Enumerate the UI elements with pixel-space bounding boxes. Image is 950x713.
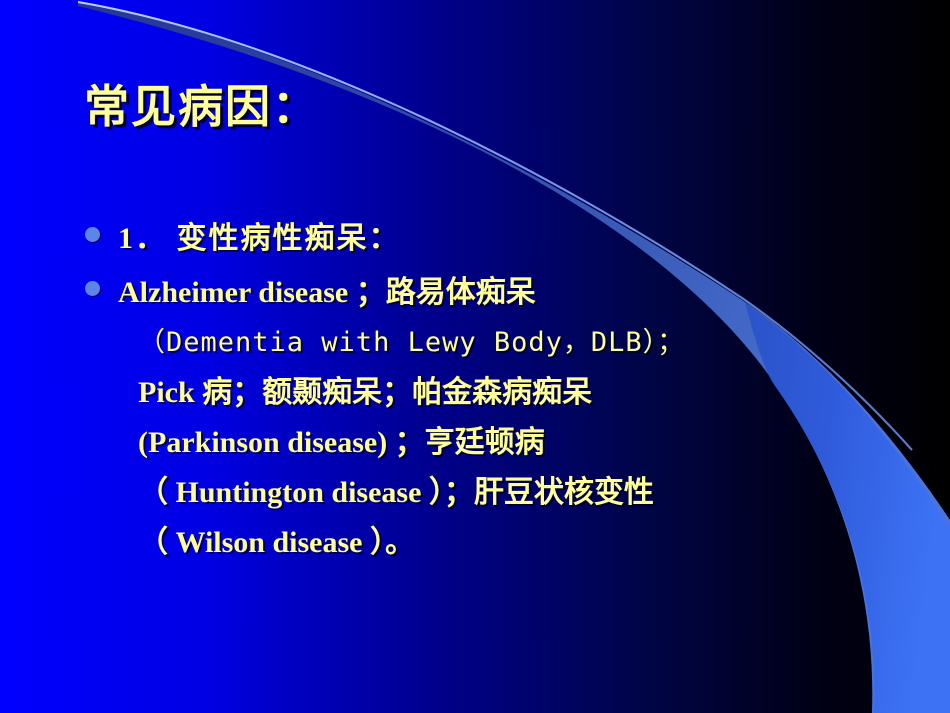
page-title: 常见病因： (84, 83, 319, 130)
bullet-dot-icon (85, 281, 100, 296)
list-item-line: Pick 病；额颞痴呆；帕金森病痴呆 (118, 368, 928, 418)
bullet-dot-icon (85, 227, 100, 242)
list-item[interactable]: 1． 变性病性痴呆： (78, 214, 928, 264)
list-item-line: （ Huntington disease ）；肝豆状核变性 (118, 468, 928, 518)
body-placeholder: 1． 变性病性痴呆： Alzheimer disease ；路易体痴呆 （Dem… (78, 214, 928, 572)
list-item-line: （Dementia with Lewy Body，DLB）； (118, 318, 928, 368)
list-item-line: Alzheimer disease ；路易体痴呆 (118, 268, 928, 318)
presentation-slide: 常见病因： 1． 变性病性痴呆： Alzheimer disease ；路易体痴… (0, 0, 950, 713)
list-item-line: 1． 变性病性痴呆： (118, 214, 928, 264)
list-item-line: （ Wilson disease ）。 (118, 518, 928, 568)
list-item-line: (Parkinson disease) ；亨廷顿病 (118, 418, 928, 468)
list-item[interactable]: Alzheimer disease ；路易体痴呆 （Dementia with … (78, 268, 928, 568)
